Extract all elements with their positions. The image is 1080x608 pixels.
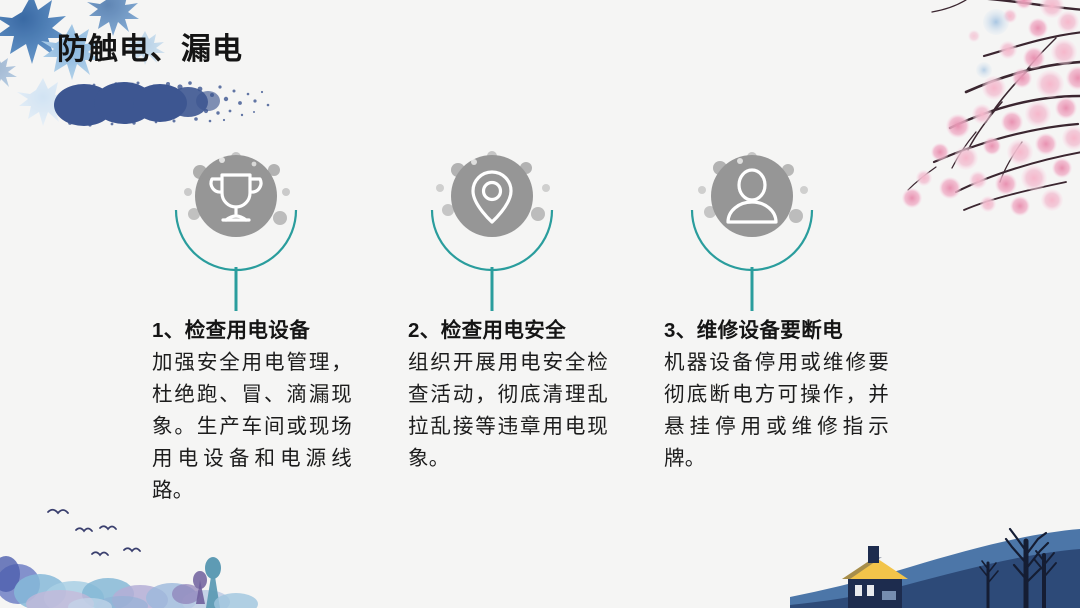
col-text-1: 1、检查用电设备 加强安全用电管理，杜绝跑、冒、滴漏现象。生产车间或现场用电设备… [152, 316, 352, 507]
badge-1[interactable] [162, 148, 332, 313]
content-column-1: 1、检查用电设备 加强安全用电管理，杜绝跑、冒、滴漏现象。生产车间或现场用电设备… [152, 148, 402, 313]
col-heading-2: 2、检查用电安全 [408, 316, 608, 347]
col-text-2: 2、检查用电安全 组织开展用电安全检查活动，彻底清理乱拉乱接等违章用电现象。 [408, 316, 608, 475]
badge-wrap-2 [408, 148, 658, 313]
col-body-1: 加强安全用电管理，杜绝跑、冒、滴漏现象。生产车间或现场用电设备和电源线路。 [152, 347, 352, 507]
col-body-2: 组织开展用电安全检查活动，彻底清理乱拉乱接等违章用电现象。 [408, 347, 608, 475]
content-column-2: 2、检查用电安全 组织开展用电安全检查活动，彻底清理乱拉乱接等违章用电现象。 [408, 148, 658, 313]
col-body-3: 机器设备停用或维修要彻底断电方可操作，并悬挂停用或维修指示牌。 [664, 347, 889, 475]
title-brush-stroke [50, 75, 280, 135]
col-heading-3: 3、维修设备要断电 [664, 316, 889, 347]
badge-wrap-3 [664, 148, 914, 313]
col-text-3: 3、维修设备要断电 机器设备停用或维修要彻底断电方可操作，并悬挂停用或维修指示牌… [664, 316, 889, 475]
ink-blot-circle-1 [184, 152, 290, 237]
ink-blot-circle-3 [698, 152, 808, 237]
col-heading-1: 1、检查用电设备 [152, 316, 352, 347]
badge-wrap-1 [152, 148, 402, 313]
ink-blot-circle-2 [436, 151, 550, 237]
badge-2[interactable] [418, 148, 588, 313]
title-block: 防触电、漏电 [57, 33, 357, 133]
badge-3[interactable] [678, 148, 848, 313]
page-title: 防触电、漏电 [57, 33, 357, 68]
content-column-3: 3、维修设备要断电 机器设备停用或维修要彻底断电方可操作，并悬挂停用或维修指示牌… [664, 148, 914, 313]
content-columns: 1、检查用电设备 加强安全用电管理，杜绝跑、冒、滴漏现象。生产车间或现场用电设备… [0, 148, 1080, 578]
slide-canvas: 防触电、漏电 [0, 0, 1080, 608]
